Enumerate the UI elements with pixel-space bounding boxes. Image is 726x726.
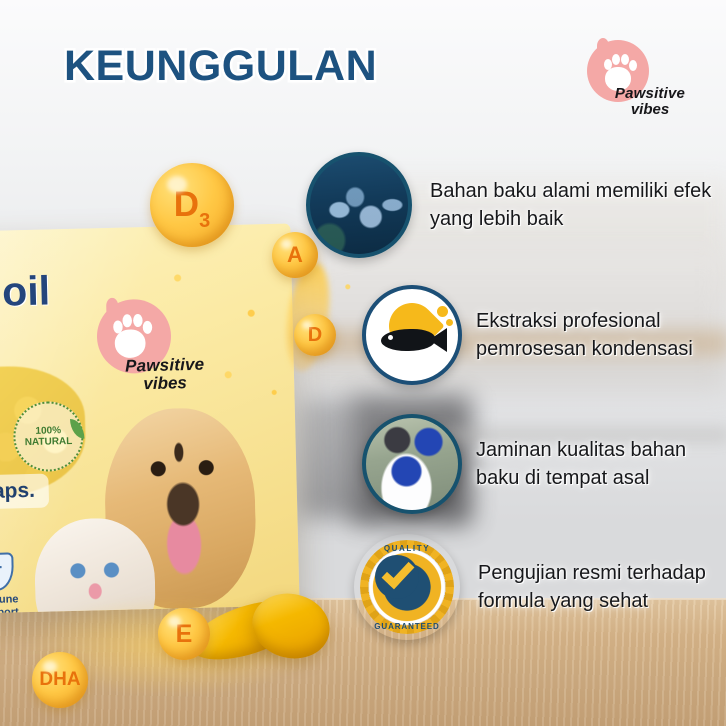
- paw-toe: [133, 314, 143, 327]
- underwater-fish-photo-icon: [306, 152, 412, 258]
- badge-bottom-text: GUARANTEED: [354, 622, 460, 631]
- immune-line1: Immune: [0, 593, 19, 607]
- vitamin-bubble-d: D: [294, 314, 336, 356]
- brand-name: Pawsitive vibes: [607, 86, 693, 118]
- brand-name-line2: vibes: [607, 102, 693, 118]
- shield-plus-icon: [0, 552, 14, 591]
- seal-line1: 100%: [35, 425, 61, 437]
- vitamin-bubble-sub: 3: [199, 210, 210, 233]
- badge-top-text: QUALITY: [354, 544, 460, 553]
- package-capsule-count: 500Caps.: [0, 474, 49, 511]
- feature-item-1: Bahan baku alami memiliki efek yang lebi…: [306, 152, 726, 258]
- paw-toe: [629, 60, 637, 71]
- paw-toe: [122, 314, 132, 327]
- vitamin-bubble-label: D: [174, 185, 199, 225]
- quality-guaranteed-badge-icon: QUALITY GUARANTEED: [354, 534, 460, 640]
- vitamin-bubble-d3: D3: [150, 163, 234, 247]
- oil-bubble-dot: [437, 306, 448, 317]
- paw-toe: [113, 320, 123, 333]
- fish-icon: [373, 325, 445, 355]
- feature-item-2: Ekstraksi profesional pemrosesan kondens…: [362, 285, 726, 385]
- brand-logo: Pawsitive vibes: [583, 38, 693, 138]
- page-title: KEUNGGULAN: [64, 42, 377, 91]
- paw-toe: [621, 54, 629, 65]
- feature-text-3: Jaminan kualitas bahan baku di tempat as…: [476, 436, 726, 493]
- lab-scientist-photo-icon: [362, 414, 462, 514]
- background-appliance-left: [300, 398, 360, 518]
- vitamin-bubble-e: E: [158, 608, 210, 660]
- feature-text-2: Ekstraksi profesional pemrosesan kondens…: [476, 307, 726, 364]
- feature-text-4: Pengujian resmi terhadap formula yang se…: [478, 559, 726, 616]
- paw-toe: [612, 54, 620, 65]
- feature-item-4: QUALITY GUARANTEED Pengujian resmi terha…: [354, 534, 726, 640]
- fish-eye: [388, 335, 393, 340]
- paw-print-icon: [109, 311, 150, 359]
- fish-body: [381, 329, 435, 351]
- seal-line2: NATURAL: [25, 436, 73, 449]
- brand-name-line1: Pawsitive: [607, 86, 693, 102]
- paw-toe: [604, 59, 612, 70]
- paw-pad: [114, 329, 145, 358]
- promo-poster: KEUNGGULAN Pawsitive vibes iver oil 100%…: [0, 0, 726, 726]
- vitamin-bubble-dha: DHA: [32, 652, 88, 708]
- feature-item-3: Jaminan kualitas bahan baku di tempat as…: [362, 414, 726, 514]
- fish-tail: [429, 328, 447, 352]
- feature-text-1: Bahan baku alami memiliki efek yang lebi…: [430, 177, 726, 234]
- fish-oil-drop-icon: [362, 285, 462, 385]
- oil-bubble-dot: [446, 319, 453, 326]
